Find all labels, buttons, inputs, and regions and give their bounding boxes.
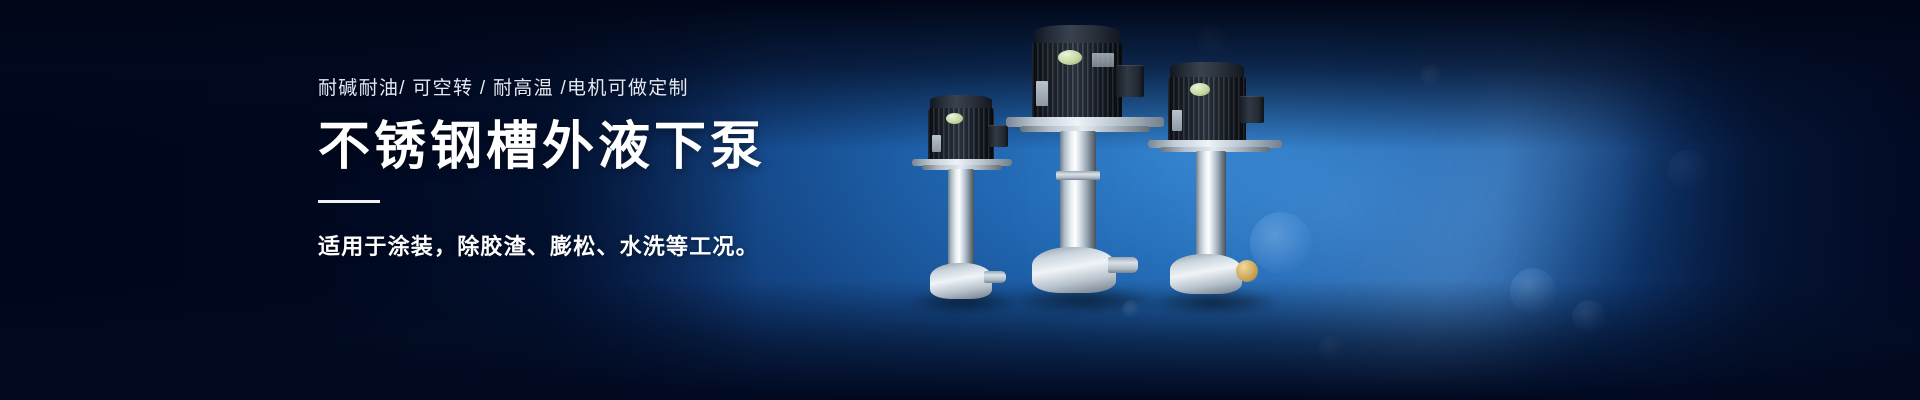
product-banner: 耐碱耐油/ 可空转 / 耐高温 /电机可做定制 不锈钢槽外液下泵 适用于涂装，除… <box>0 0 1920 400</box>
banner-eyebrow-text: 耐碱耐油/ 可空转 / 耐高温 /电机可做定制 <box>318 76 878 103</box>
pump-terminal-label <box>1092 53 1114 67</box>
pump-junction-box <box>1240 96 1264 123</box>
pump-nameplate <box>1172 110 1182 131</box>
pump-brass-fitting <box>1236 260 1258 282</box>
pump-nameplate <box>932 135 941 152</box>
pump-brand-badge <box>1058 50 1082 65</box>
banner-copy-block: 耐碱耐油/ 可空转 / 耐高温 /电机可做定制 不锈钢槽外液下泵 适用于涂装，除… <box>318 76 878 263</box>
pump-casing <box>1032 247 1116 293</box>
banner-description-text: 适用于涂装，除胶渣、膨松、水洗等工况。 <box>318 230 878 263</box>
pump-outlet-port <box>1108 257 1138 273</box>
banner-headline: 不锈钢槽外液下泵 <box>318 117 878 178</box>
banner-divider <box>318 200 380 203</box>
pump-casing <box>1170 254 1242 294</box>
pump-shaft-column <box>1060 131 1096 265</box>
pump-brand-badge <box>946 113 963 124</box>
pump-brand-badge <box>1190 83 1210 96</box>
pump-shaft-collar <box>1056 171 1100 180</box>
pump-casing <box>930 263 992 299</box>
pump-shaft-column <box>1196 151 1226 269</box>
product-image-pump-right <box>1140 62 1290 310</box>
pump-nameplate <box>1036 81 1048 106</box>
